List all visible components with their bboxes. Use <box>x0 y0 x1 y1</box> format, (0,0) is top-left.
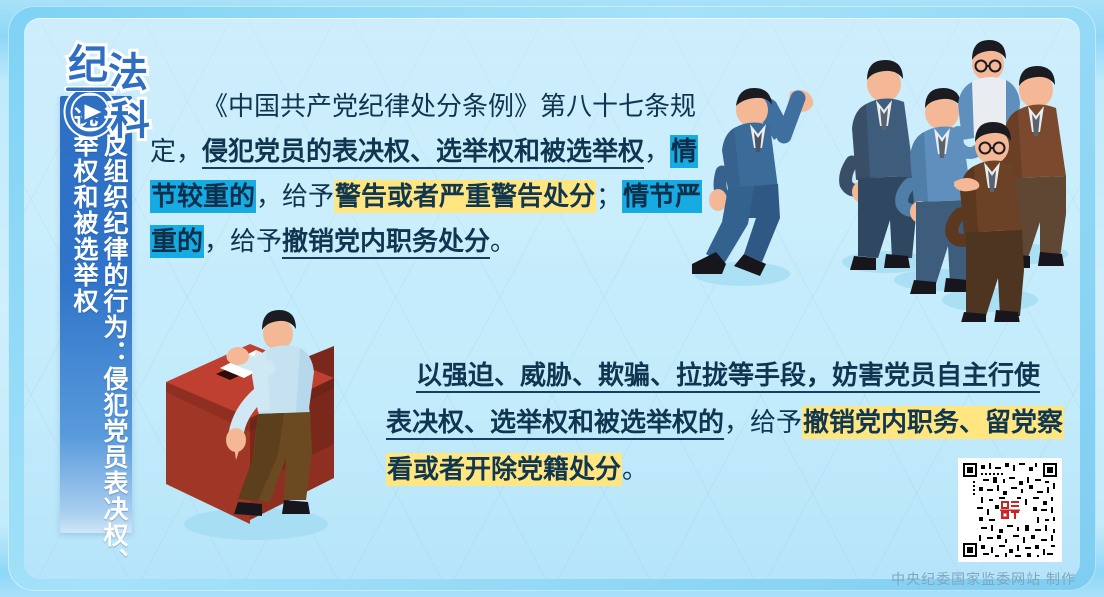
para1-l3-cyan-1: 节较重的 <box>150 180 256 213</box>
para2-l2-seg2: ，给予 <box>724 408 802 437</box>
para1-line-3: 节较重的，给予警告或者严重警告处分；情节严 <box>150 174 680 219</box>
para2-l3-seg2: 。 <box>622 455 648 484</box>
para1-l4-cyan: 重的 <box>150 225 204 258</box>
para2-line-1: 以强迫、威胁、欺骗、拉拢等手段，妨害党员自主行使 <box>386 352 998 399</box>
para1-l2-seg3: ， <box>644 137 670 166</box>
figure-navy-suit-1 <box>846 60 916 270</box>
para2-line-3: 看或者开除党籍处分。 <box>386 446 998 493</box>
para1-l2-underline: 侵犯党员的表决权、选举权和被选举权 <box>202 137 644 169</box>
para1-l1-seg1: 《中国共产党纪律处分条例》第八十七条规 <box>202 92 696 121</box>
para2-l1-underline: 以强迫、威胁、欺骗、拉拢等手段，妨害党员自主行使 <box>416 361 1040 393</box>
paragraph-2: 以强迫、威胁、欺骗、拉拢等手段，妨害党员自主行使 表决权、选举权和被选举权的，给… <box>386 352 998 493</box>
footer-credit: 中央纪委国家监委网站 制作 <box>0 569 1076 589</box>
para1-l3-cyan-2: 情节严 <box>622 180 702 213</box>
paragraph-1: 《中国共产党纪律处分条例》第八十七条规 定，侵犯党员的表决权、选举权和被选举权，… <box>150 84 680 264</box>
play-icon <box>64 86 116 134</box>
para1-l4-underline: 撤销党内职务处分 <box>282 227 490 259</box>
para1-line-2: 定，侵犯党员的表决权、选举权和被选举权，情 <box>150 129 680 174</box>
para2-l2-yellow: 撤销党内职务、留党察 <box>802 406 1064 439</box>
qr-code[interactable] <box>958 458 1062 562</box>
banner-column-right: 违反组织纪律的行为：侵犯党员表决权、 <box>98 106 128 574</box>
group-of-businessmen-illustration <box>690 22 1098 322</box>
para1-l2-cyan: 情 <box>670 135 698 168</box>
para1-line-4: 重的，给予撤销党内职务处分。 <box>150 219 680 264</box>
para2-line-2: 表决权、选举权和被选举权的，给予撤销党内职务、留党察 <box>386 399 998 446</box>
para1-l4-seg4: 。 <box>490 227 516 256</box>
man-casting-ballot-illustration <box>150 296 366 562</box>
para1-l3-seg4: ； <box>596 182 622 211</box>
para1-line-1: 《中国共产党纪律处分条例》第八十七条规 <box>150 84 680 129</box>
para1-l3-seg2: ，给予 <box>256 182 334 211</box>
figure-protesting-man <box>692 88 813 276</box>
para2-l2-underline: 表决权、选举权和被选举权的 <box>386 408 724 440</box>
para1-l3-yellow: 警告或者严重警告处分 <box>334 180 596 213</box>
vertical-title-banner: 违反组织纪律的行为：侵犯党员表决权、 选举权和被选举权 <box>60 96 132 533</box>
poster-root: 纪 法 科 违反组织纪律的行为：侵犯党员表决权、 选举权和被选举权 <box>0 0 1104 597</box>
logo-char-ji: 纪 <box>68 42 108 87</box>
logo-char-ke: 科 <box>110 98 150 142</box>
para1-l4-seg2: ，给予 <box>204 227 282 256</box>
brand-logo[interactable]: 纪 法 科 <box>52 30 164 142</box>
para2-l3-yellow: 看或者开除党籍处分 <box>386 453 622 486</box>
